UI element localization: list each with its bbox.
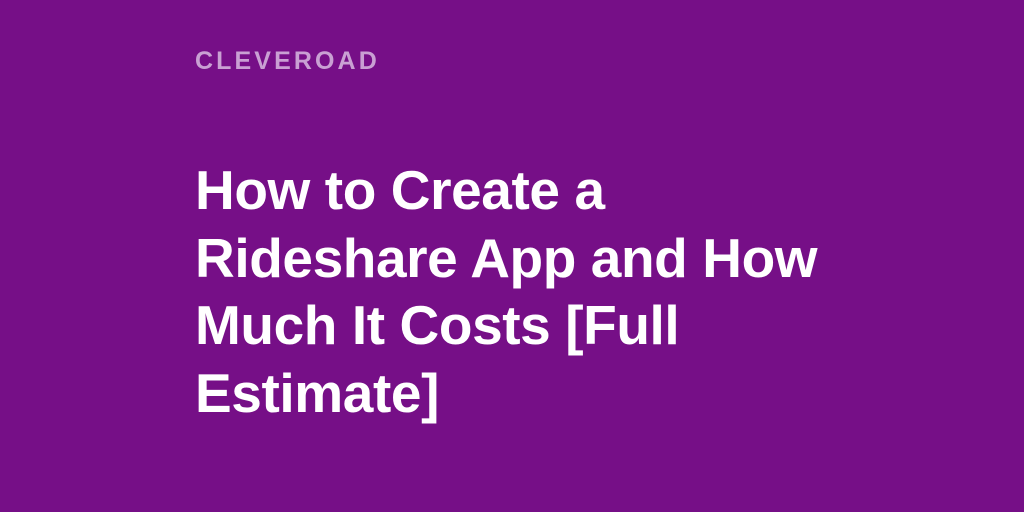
article-cover-banner: CLEVEROAD How to Create a Rideshare App …	[0, 0, 1024, 512]
page-title-line-2: Rideshare App and How	[195, 225, 835, 293]
cleveroad-brand-logo[interactable]: CLEVEROAD	[195, 46, 380, 76]
page-title-line-3: Much It Costs [Full	[195, 292, 835, 360]
page-title-line-1: How to Create a	[195, 157, 835, 225]
page-title-line-4: Estimate]	[195, 360, 835, 428]
page-title: How to Create a Rideshare App and How Mu…	[195, 157, 835, 427]
